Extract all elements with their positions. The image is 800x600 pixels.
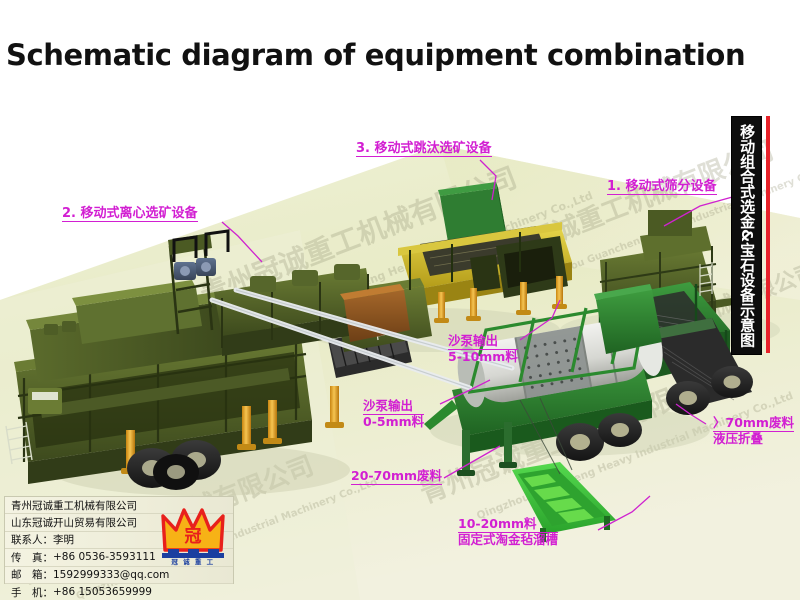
- flow-label-10-20mm-sluice: 10-20mm料 固定式淘金毡溜槽: [458, 517, 558, 548]
- contact-person-value: 李明: [53, 532, 74, 547]
- flow-label-20-70mm-waste: 20-70mm废料: [351, 469, 442, 485]
- contact-company-2-text: 山东冠诚开山贸易有限公司: [11, 515, 137, 530]
- flow-label-over-70mm-fold: 〉70mm废料 液压折叠: [713, 416, 794, 447]
- callout-label-2-text: 2. 移动式离心选矿设备: [62, 206, 198, 222]
- callout-label-3: 3. 移动式跳汰选矿设备: [356, 141, 492, 157]
- flow-label-line1: 沙泵输出: [363, 399, 424, 415]
- contact-email-label: 邮 箱：: [11, 567, 53, 582]
- callout-label-2: 2. 移动式离心选矿设备: [62, 206, 198, 222]
- flow-label-sand-pump-0-5: 沙泵输出 0-5mm料: [363, 399, 424, 430]
- contact-fax-value: +86 0536-3593111: [53, 551, 156, 563]
- schematic-canvas: 青州冠诚重工机械有限公司 Qingzhou Guancheng Heavy In…: [0, 0, 800, 600]
- flow-label-line1: 20-70mm废料: [351, 469, 442, 485]
- contact-person-label: 联系人：: [11, 532, 53, 547]
- contact-mobile-value: +86 15053659999: [53, 586, 152, 598]
- contact-email-value[interactable]: 1592999333@qq.com: [53, 569, 169, 581]
- vertical-banner-text: 移动组合式选金&宝石设备示意图: [739, 124, 754, 347]
- contact-fax-label: 传 真：: [11, 550, 53, 565]
- flow-label-line2: 5-10mm料: [448, 350, 518, 365]
- contact-mobile-row: 手 机： +86 15053659999: [5, 584, 233, 600]
- company-logo: 冠 冠 诚 重 工: [160, 506, 226, 568]
- contact-mobile-label: 手 机：: [11, 585, 53, 600]
- page-title: Schematic diagram of equipment combinati…: [6, 38, 745, 72]
- contact-email-row[interactable]: 邮 箱： 1592999333@qq.com: [5, 567, 233, 584]
- flow-label-line1: 沙泵输出: [448, 334, 518, 350]
- flow-label-line2: 液压折叠: [713, 432, 794, 447]
- vertical-banner: 移动组合式选金&宝石设备示意图: [731, 116, 762, 355]
- svg-text:冠: 冠: [185, 527, 202, 547]
- company-logo-text: 冠 诚 重 工: [160, 556, 226, 566]
- flow-label-line2: 固定式淘金毡溜槽: [458, 533, 558, 548]
- callout-label-3-text: 3. 移动式跳汰选矿设备: [356, 141, 492, 157]
- flow-label-line1: 10-20mm料: [458, 517, 558, 533]
- flow-label-line1: 〉70mm废料: [713, 416, 794, 432]
- callout-label-1-text: 1. 移动式筛分设备: [607, 179, 717, 195]
- contact-company-1-text: 青州冠诚重工机械有限公司: [11, 498, 137, 513]
- banner-accent-bar: [766, 116, 770, 353]
- callout-label-1: 1. 移动式筛分设备: [607, 179, 717, 195]
- flow-label-sand-pump-5-10: 沙泵输出 5-10mm料: [448, 334, 518, 365]
- flow-label-line2: 0-5mm料: [363, 415, 424, 430]
